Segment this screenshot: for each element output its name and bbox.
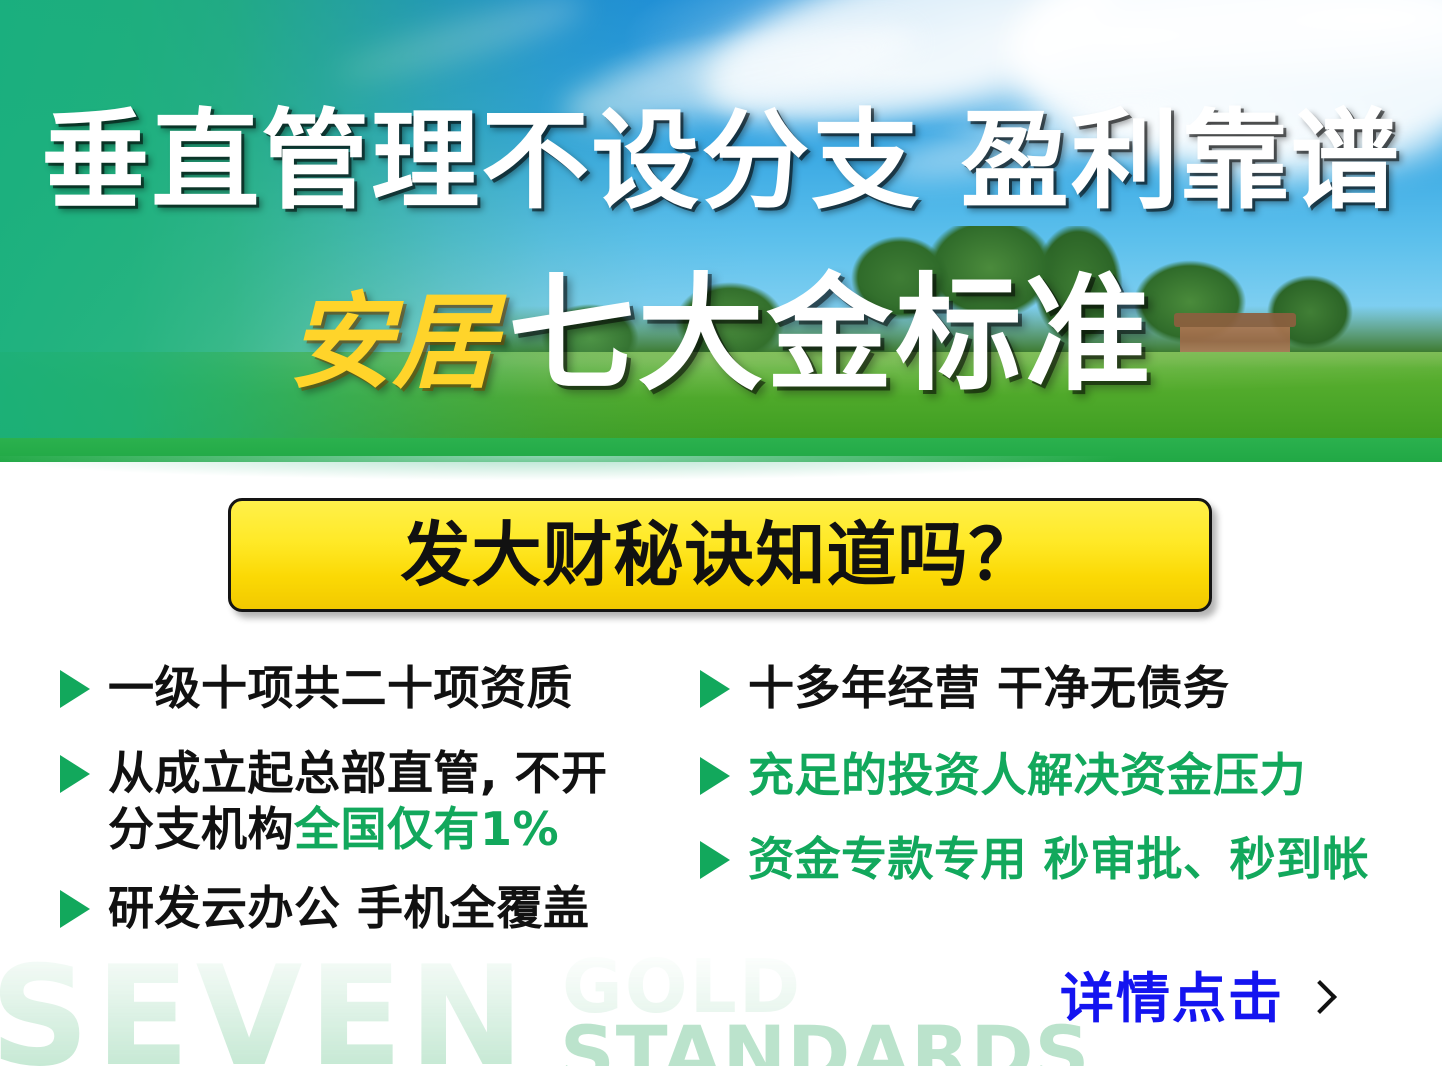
triangle-bullet-icon	[60, 890, 90, 928]
feature-item: 十多年经营 干净无债务	[700, 660, 1400, 717]
chevron-right-icon	[1306, 979, 1328, 1019]
feature-text-highlight: 全国仅有1%	[294, 802, 559, 856]
features-column-right: 十多年经营 干净无债务 充足的投资人解决资金压力 资金专款专用 秒审批、秒到帐	[700, 660, 1400, 914]
feature-text: 资金专款专用 秒审批、秒到帐	[748, 831, 1369, 888]
feature-item: 从成立起总部直管, 不开分支机构全国仅有1%	[60, 745, 700, 858]
triangle-bullet-icon	[60, 670, 90, 708]
cta-banner[interactable]: 发大财秘诀知道吗？	[228, 498, 1212, 612]
triangle-bullet-icon	[700, 670, 730, 708]
watermark-standards: STANDARDS	[560, 1016, 1090, 1066]
cta-banner-label: 发大财秘诀知道吗？	[401, 520, 1040, 590]
features-section: 一级十项共二十项资质 从成立起总部直管, 不开分支机构全国仅有1% 研发云办公 …	[0, 660, 1442, 990]
advertisement-banner: 垂直管理不设分支 盈利靠谱 安居七大金标准 发大财秘诀知道吗？ 一级十项共二十项…	[0, 0, 1442, 1066]
hero-headline-primary: 垂直管理不设分支 盈利靠谱	[0, 108, 1442, 216]
detail-link[interactable]: 详情点击	[1060, 972, 1328, 1026]
feature-text: 研发云办公 手机全覆盖	[108, 880, 590, 937]
feature-item: 研发云办公 手机全覆盖	[60, 880, 700, 937]
hero-headline-secondary-text: 七大金标准	[509, 261, 1154, 408]
triangle-bullet-icon	[700, 841, 730, 879]
hero-bottom-fade	[0, 456, 1442, 482]
detail-link-label: 详情点击	[1060, 972, 1284, 1026]
feature-text-line2: 分支机构	[108, 802, 294, 856]
feature-text: 从成立起总部直管, 不开分支机构全国仅有1%	[108, 745, 608, 858]
features-column-left: 一级十项共二十项资质 从成立起总部直管, 不开分支机构全国仅有1% 研发云办公 …	[60, 660, 700, 962]
feature-text: 一级十项共二十项资质	[108, 660, 573, 717]
feature-text-line1: 从成立起总部直管, 不开	[108, 746, 608, 800]
feature-text: 充足的投资人解决资金压力	[748, 747, 1306, 804]
feature-item: 一级十项共二十项资质	[60, 660, 700, 717]
triangle-bullet-icon	[60, 755, 90, 793]
feature-item: 资金专款专用 秒审批、秒到帐	[700, 831, 1400, 888]
feature-text: 十多年经营 干净无债务	[748, 660, 1230, 717]
hero-section: 垂直管理不设分支 盈利靠谱 安居七大金标准	[0, 0, 1442, 462]
hero-headline-secondary: 安居七大金标准	[0, 272, 1442, 398]
triangle-bullet-icon	[700, 757, 730, 795]
brand-name: 安居	[288, 281, 496, 403]
feature-item: 充足的投资人解决资金压力	[700, 747, 1400, 804]
